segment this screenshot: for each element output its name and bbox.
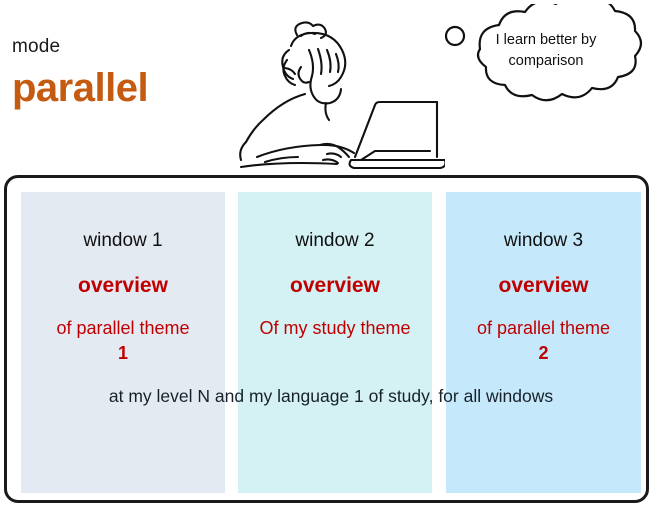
window-panel-1-label: window 1: [21, 230, 225, 252]
person-at-laptop-thinking-icon: [205, 2, 445, 172]
mode-label: mode: [12, 36, 60, 58]
window-panel-3-subject: of parallel theme 2: [446, 316, 641, 366]
mode-value: parallel: [12, 66, 148, 111]
window-panel-3[interactable]: window 3 overview of parallel theme 2: [446, 192, 641, 493]
window-panel-1-heading: overview: [21, 274, 225, 298]
window-panel-2-subject-text: Of my study theme: [259, 318, 410, 338]
window-panel-3-emphasis: 2: [446, 341, 641, 366]
windows-container: window 1 overview of parallel theme 1 wi…: [4, 175, 649, 503]
window-panel-1-subject-text: of parallel theme: [56, 318, 189, 338]
window-panel-2-label: window 2: [238, 230, 432, 252]
window-panel-3-heading: overview: [446, 274, 641, 298]
window-panel-1[interactable]: window 1 overview of parallel theme 1: [21, 192, 225, 493]
window-panel-1-emphasis: 1: [21, 341, 225, 366]
thought-bubble-text: I learn better by comparison: [466, 30, 626, 72]
window-panel-2[interactable]: window 2 overview Of my study theme: [238, 192, 432, 493]
header: mode parallel: [0, 0, 656, 172]
window-panel-3-label: window 3: [446, 230, 641, 252]
window-panel-1-subject: of parallel theme 1: [21, 316, 225, 366]
window-panel-3-subject-text: of parallel theme: [477, 318, 610, 338]
window-panel-2-subject: Of my study theme: [238, 316, 432, 341]
window-panel-2-heading: overview: [238, 274, 432, 298]
